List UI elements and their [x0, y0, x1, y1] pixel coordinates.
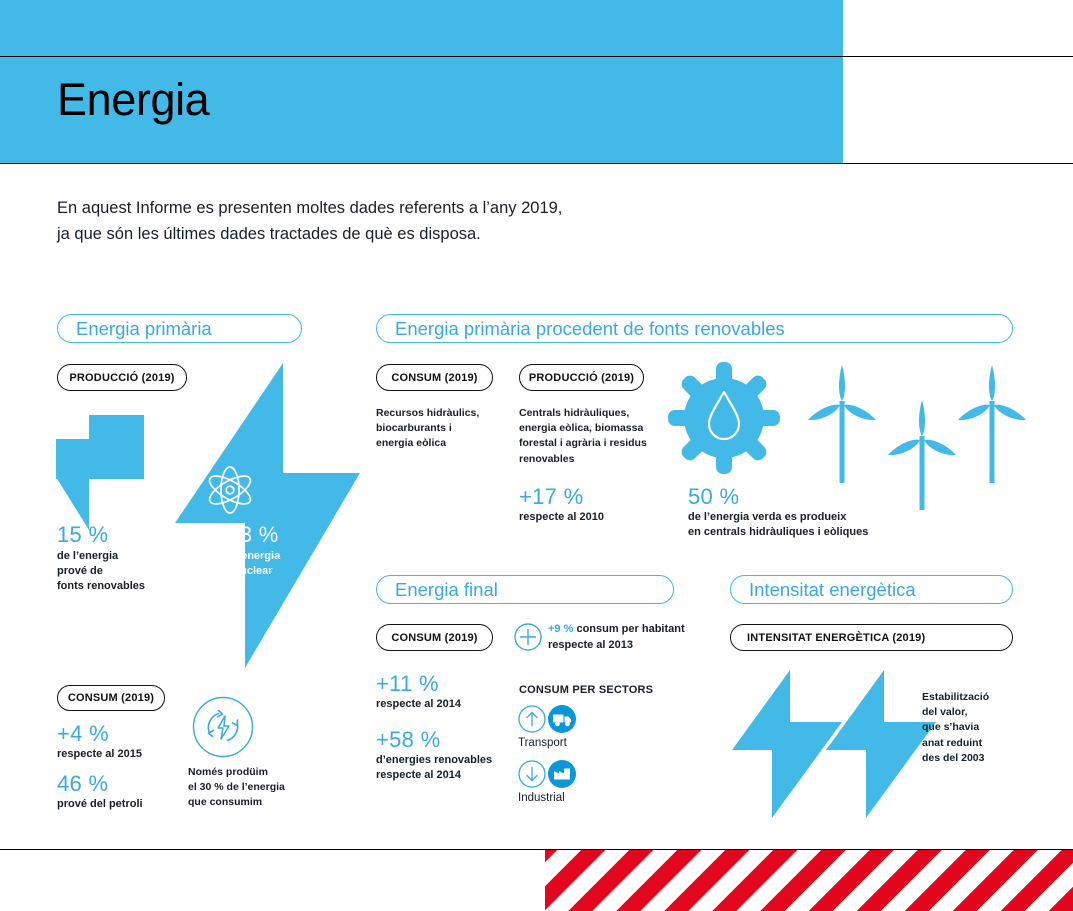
- section-title-energia-primaria: Energia primària: [57, 314, 302, 343]
- stat-value: 46 %: [57, 772, 197, 795]
- stat-value: 15 %: [57, 523, 187, 546]
- stat-line-3: fonts renovables: [57, 579, 187, 594]
- header-band-top: [0, 0, 843, 57]
- tag-label: INTENSITAT ENERGÈTICA (2019): [747, 632, 925, 644]
- consum-description-renovables: Recursos hidràulics, biocarburants i ene…: [376, 406, 511, 452]
- note-line-4: anat reduint: [922, 736, 1052, 751]
- desc-line-1: Centrals hidràuliques,: [519, 406, 669, 421]
- lightning-bolt-icon: [56, 415, 171, 530]
- tag-produccio-renovables: PRODUCCIÓ (2019): [519, 364, 644, 391]
- stat-line-1: de l’energia: [57, 549, 187, 564]
- note-line-2: el 30 % de l’energia: [188, 780, 338, 795]
- stat-value: +17 %: [519, 485, 669, 508]
- tag-consum-renovables: CONSUM (2019): [376, 364, 493, 391]
- stat-renovables-primaria: 15 % de l’energia prové de fonts renovab…: [57, 523, 187, 595]
- stat-value: +4 %: [57, 722, 187, 745]
- section-title-renovables: Energia primària procedent de fonts reno…: [376, 314, 1013, 343]
- arrow-down-circle-icon: [518, 760, 546, 788]
- note-line-5: des del 2003: [922, 751, 1052, 766]
- tag-consum-primaria: CONSUM (2019): [57, 685, 165, 711]
- stat-consum-2015: +4 % respecte al 2015: [57, 722, 187, 762]
- note-line-2: del valor,: [922, 705, 1052, 720]
- stat-line-1: d’energies renovables: [376, 753, 526, 768]
- desc-line-2: energia eòlica, biomassa: [519, 421, 669, 436]
- stat-line-2: prové de: [57, 564, 187, 579]
- stat-petroli: 46 % prové del petroli: [57, 772, 197, 812]
- stat-line-1: respecte al 2010: [519, 510, 669, 525]
- stat-energia-verda: 50 % de l’energia verda es produeix en c…: [688, 485, 1018, 540]
- header-rule-bottom: [0, 163, 1073, 164]
- tag-label: CONSUM (2019): [68, 692, 154, 704]
- stat-line-1: respecte al 2015: [57, 747, 187, 762]
- factory-icon: [548, 760, 576, 788]
- note-line-1: Només prodüim: [188, 765, 338, 780]
- truck-icon: [548, 705, 576, 733]
- infographic-page: Energia En aquest Informe es presenten m…: [0, 0, 1073, 911]
- stat-text: consum per habitant: [573, 623, 684, 635]
- stat-value: +58 %: [376, 728, 526, 751]
- arrow-up-circle-icon: [518, 705, 546, 733]
- stat-line-1: és energia: [198, 549, 308, 564]
- plus-circle-icon: [514, 623, 542, 651]
- wind-turbine-icon: [798, 365, 886, 483]
- stat-value: +11 %: [376, 672, 526, 695]
- sectors-heading: CONSUM PER SECTORS: [519, 683, 653, 698]
- section-title-intensitat: Intensitat energètica: [730, 575, 1013, 604]
- intro-paragraph: En aquest Informe es presenten moltes da…: [57, 196, 757, 247]
- section-title-label: Energia primària procedent de fonts reno…: [395, 318, 785, 340]
- recycle-energy-icon: [192, 696, 254, 758]
- intro-line-1: En aquest Informe es presenten moltes da…: [57, 196, 757, 222]
- tag-label: CONSUM (2019): [391, 372, 477, 384]
- water-turbine-icon: [668, 362, 780, 474]
- produccio-description-renovables: Centrals hidràuliques, energia eòlica, b…: [519, 406, 669, 467]
- wind-turbine-icon: [948, 365, 1036, 483]
- tag-intensitat: INTENSITAT ENERGÈTICA (2019): [730, 624, 1013, 651]
- tag-produccio-primaria: PRODUCCIÓ (2019): [57, 364, 187, 391]
- intro-line-2: ja que són les últimes dades tractades d…: [57, 222, 757, 248]
- tag-label: PRODUCCIÓ (2019): [529, 372, 634, 384]
- note-line-3: que s’havia: [922, 720, 1052, 735]
- stat-line-2: en centrals hidràuliques i eòliques: [688, 525, 1018, 540]
- tag-label: CONSUM (2019): [391, 632, 477, 644]
- section-title-label: Energia primària: [76, 318, 212, 340]
- section-title-label: Intensitat energètica: [749, 579, 916, 601]
- stat-value: +9 %: [548, 623, 573, 635]
- sector-label-industrial: Industrial: [518, 791, 565, 807]
- stat-value: 50 %: [688, 485, 1018, 508]
- stat-line-2: nuclear: [198, 564, 308, 579]
- desc-line-1: Recursos hidràulics,: [376, 406, 511, 421]
- stat-line-1: de l’energia verda es produeix: [688, 510, 1018, 525]
- tag-label: PRODUCCIÓ (2019): [69, 372, 174, 384]
- note-line-3: que consumim: [188, 795, 338, 810]
- stat-line-1: prové del petroli: [57, 797, 197, 812]
- stat-final-renovables: +58 % d’energies renovables respecte al …: [376, 728, 526, 783]
- atom-icon: [203, 463, 257, 517]
- stat-final-2014: +11 % respecte al 2014: [376, 672, 526, 712]
- stat-value: 83 %: [198, 523, 308, 546]
- stat-renovables-2010: +17 % respecte al 2010: [519, 485, 669, 525]
- stat-nuclear-primaria: 83 % és energia nuclear: [198, 523, 308, 579]
- page-title: Energia: [57, 77, 209, 122]
- desc-line-2: biocarburants i: [376, 421, 511, 436]
- desc-line-3: energia eòlica: [376, 436, 511, 451]
- stat-line-1: respecte al 2014: [376, 697, 526, 712]
- desc-line-3: forestal i agrària i residus: [519, 436, 669, 451]
- section-title-label: Energia final: [395, 579, 498, 601]
- tag-consum-final: CONSUM (2019): [376, 624, 493, 651]
- stat-line-2: respecte al 2014: [376, 768, 526, 783]
- footer-stripe-band: [545, 850, 1073, 911]
- desc-line-4: renovables: [519, 452, 669, 467]
- sector-label-transport: Transport: [518, 736, 567, 752]
- note-intensitat: Estabilització del valor, que s’havia an…: [922, 690, 1052, 766]
- section-title-energia-final: Energia final: [376, 575, 674, 604]
- note-recycle: Només prodüim el 30 % de l’energia que c…: [188, 765, 338, 811]
- note-line-1: Estabilització: [922, 690, 1052, 705]
- lightning-bolt-icon: [826, 670, 936, 818]
